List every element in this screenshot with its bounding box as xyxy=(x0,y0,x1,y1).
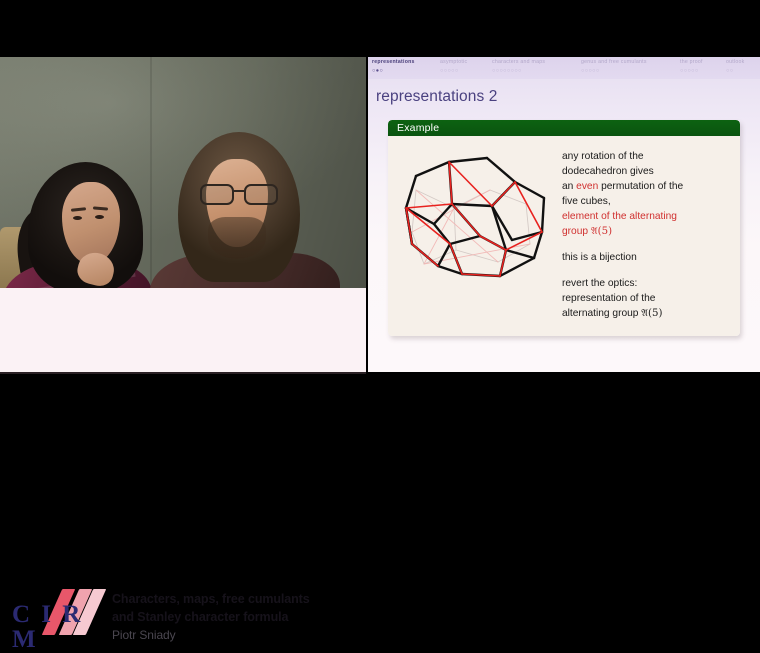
talk-title: Characters, maps, free cumulants and Sta… xyxy=(112,591,357,627)
example-p1-line1: any rotation of the xyxy=(562,151,644,162)
example-p1-red-line2-pre: group xyxy=(562,226,591,237)
example-p3-line3-pre: alternating group xyxy=(562,308,641,319)
talk-title-bar: C I R M Characters, maps, free cumulants… xyxy=(0,288,366,374)
example-p1-line2: dodecahedron gives xyxy=(562,166,654,177)
lecture-video[interactable] xyxy=(0,57,366,288)
nav-dots-representations[interactable]: ○●○ xyxy=(372,68,383,74)
eyeglasses xyxy=(200,184,276,202)
example-p2-line1: this is a bijection xyxy=(562,252,637,263)
example-p1-red-line1: element of the alternating xyxy=(562,211,677,222)
talk-title-line-1: Characters, maps, free cumulants xyxy=(112,592,310,606)
example-paragraph-1: any rotation of the dodecahedron gives a… xyxy=(562,150,734,240)
speaker-name: Piotr Sniady xyxy=(112,628,176,642)
example-paragraph-2: this is a bijection xyxy=(562,251,734,266)
nav-section-genus-and-free-cumulants[interactable]: genus and free cumulants xyxy=(581,59,647,65)
screen: C I R M Characters, maps, free cumulants… xyxy=(0,0,760,427)
example-p1-line3-pre: an xyxy=(562,181,576,192)
example-p3-line1: revert the optics: xyxy=(562,278,637,289)
example-p1-line4: five cubes, xyxy=(562,196,611,207)
example-block: Example xyxy=(388,120,740,336)
example-block-header-label: Example xyxy=(397,122,439,134)
example-text-column: any rotation of the dodecahedron gives a… xyxy=(562,150,734,322)
example-alternating-group-symbol-2: 𝔄(5) xyxy=(641,308,662,319)
example-p1-line3-post: permutation of the xyxy=(598,181,683,192)
nav-dots-the-proof[interactable]: ○○○○○ xyxy=(680,68,699,74)
example-block-body: any rotation of the dodecahedron gives a… xyxy=(388,136,740,336)
dodecahedron-figure xyxy=(394,146,554,286)
cirm-logo: C I R M xyxy=(12,588,104,636)
nav-dots-outlook[interactable]: ○○ xyxy=(726,68,733,74)
example-paragraph-3: revert the optics: representation of the… xyxy=(562,277,734,322)
nav-dots-characters-and-maps[interactable]: ○○○○○○○○ xyxy=(492,68,522,74)
nav-section-asymptotic[interactable]: asymptotic xyxy=(440,59,467,65)
nav-dots-genus-and-free-cumulants[interactable]: ○○○○○ xyxy=(581,68,600,74)
nav-dots-asymptotic[interactable]: ○○○○○ xyxy=(440,68,459,74)
wall-seam xyxy=(150,57,152,288)
logo-letters: C I R M xyxy=(12,602,104,652)
slide-navigation-bar[interactable]: representations ○●○ asymptotic ○○○○○ cha… xyxy=(368,57,760,79)
example-alternating-group-symbol: 𝔄(5) xyxy=(591,226,612,237)
nav-section-characters-and-maps[interactable]: characters and maps xyxy=(492,59,545,65)
audience-person-right-beard xyxy=(208,217,266,259)
example-block-header: Example xyxy=(388,120,740,136)
presentation-slide[interactable]: representations ○●○ asymptotic ○○○○○ cha… xyxy=(368,57,760,372)
nav-section-outlook[interactable]: outlook xyxy=(726,59,744,65)
example-keyword-even: even xyxy=(576,181,598,192)
nav-section-the-proof[interactable]: the proof xyxy=(680,59,703,65)
nav-section-representations[interactable]: representations xyxy=(372,59,415,65)
example-p3-line2: representation of the xyxy=(562,293,655,304)
talk-title-line-2: and Stanley character formula xyxy=(112,610,288,624)
slide-frame-title: representations 2 xyxy=(376,88,497,106)
